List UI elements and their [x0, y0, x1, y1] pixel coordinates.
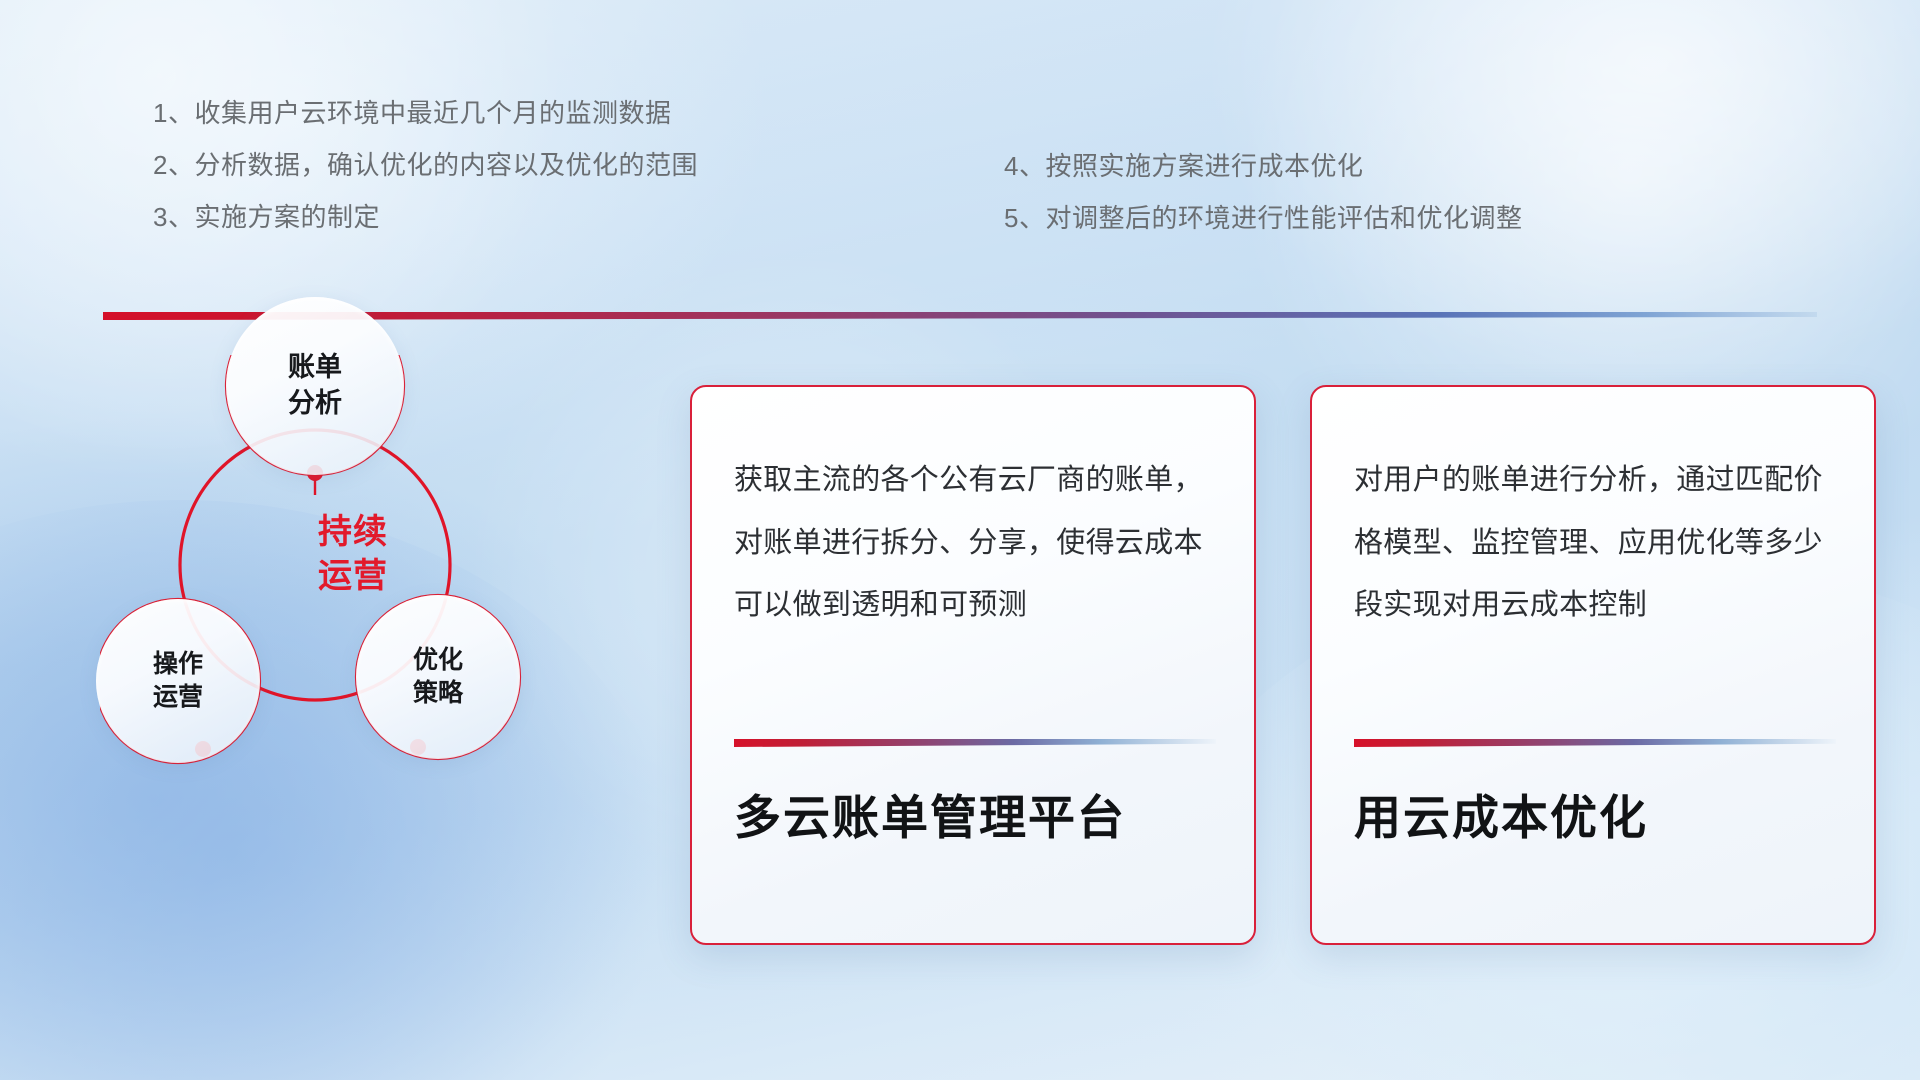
slide-canvas: 1、收集用户云环境中最近几个月的监测数据 2、分析数据，确认优化的内容以及优化的…	[0, 0, 1920, 1080]
step-item-4: 4、按照实施方案进行成本优化	[1004, 153, 1522, 179]
card-multicloud-billing[interactable]: 获取主流的各个公有云厂商的账单，对账单进行拆分、分享，使得云成本可以做到透明和可…	[690, 385, 1256, 945]
card-2-title: 用云成本优化	[1354, 779, 1850, 848]
steps-list-right: 4、按照实施方案进行成本优化 5、对调整后的环境进行性能评估和优化调整	[1004, 153, 1522, 257]
card-1-title: 多云账单管理平台	[734, 779, 1230, 848]
card-2-accent-rule	[1354, 739, 1836, 747]
bubble-operation-label: 操作运营	[153, 648, 203, 714]
bubble-operation[interactable]: 操作运营	[96, 599, 260, 763]
step-item-5: 5、对调整后的环境进行性能评估和优化调整	[1004, 205, 1522, 231]
diagram-center-text: 持续运营	[318, 511, 388, 598]
diagram-center-label: 持续运营	[258, 475, 448, 635]
step-item-3: 3、实施方案的制定	[153, 204, 698, 230]
continuous-operation-diagram: 账单分析 操作运营 优化策略 持续运营	[100, 355, 640, 955]
card-1-accent-rule	[734, 739, 1216, 747]
steps-list-left: 1、收集用户云环境中最近几个月的监测数据 2、分析数据，确认优化的内容以及优化的…	[153, 100, 698, 256]
bubble-bill-analysis-label: 账单分析	[288, 350, 342, 421]
step-item-2: 2、分析数据，确认优化的内容以及优化的范围	[153, 152, 698, 178]
bubble-optimization-strategy-label: 优化策略	[413, 644, 463, 710]
card-1-body: 获取主流的各个公有云厂商的账单，对账单进行拆分、分享，使得云成本可以做到透明和可…	[734, 449, 1224, 637]
bubble-bill-analysis[interactable]: 账单分析	[226, 297, 404, 475]
card-2-body: 对用户的账单进行分析，通过匹配价格模型、监控管理、应用优化等多少段实现对用云成本…	[1354, 449, 1844, 637]
step-item-1: 1、收集用户云环境中最近几个月的监测数据	[153, 100, 698, 126]
card-cost-optimization[interactable]: 对用户的账单进行分析，通过匹配价格模型、监控管理、应用优化等多少段实现对用云成本…	[1310, 385, 1876, 945]
